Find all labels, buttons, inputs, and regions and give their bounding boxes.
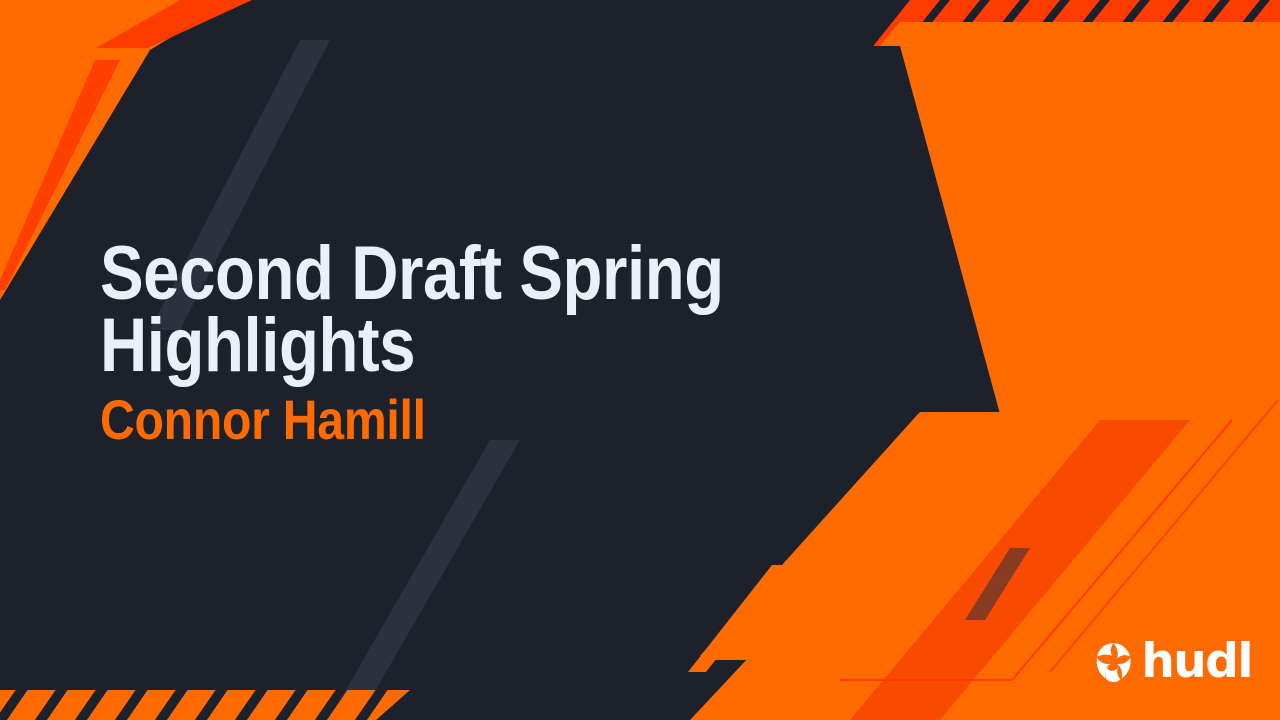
right-orange-top-edge [880,22,1280,46]
background-artwork [0,0,1280,720]
slide-canvas: Second Draft Spring Highlights Connor Ha… [0,0,1280,720]
